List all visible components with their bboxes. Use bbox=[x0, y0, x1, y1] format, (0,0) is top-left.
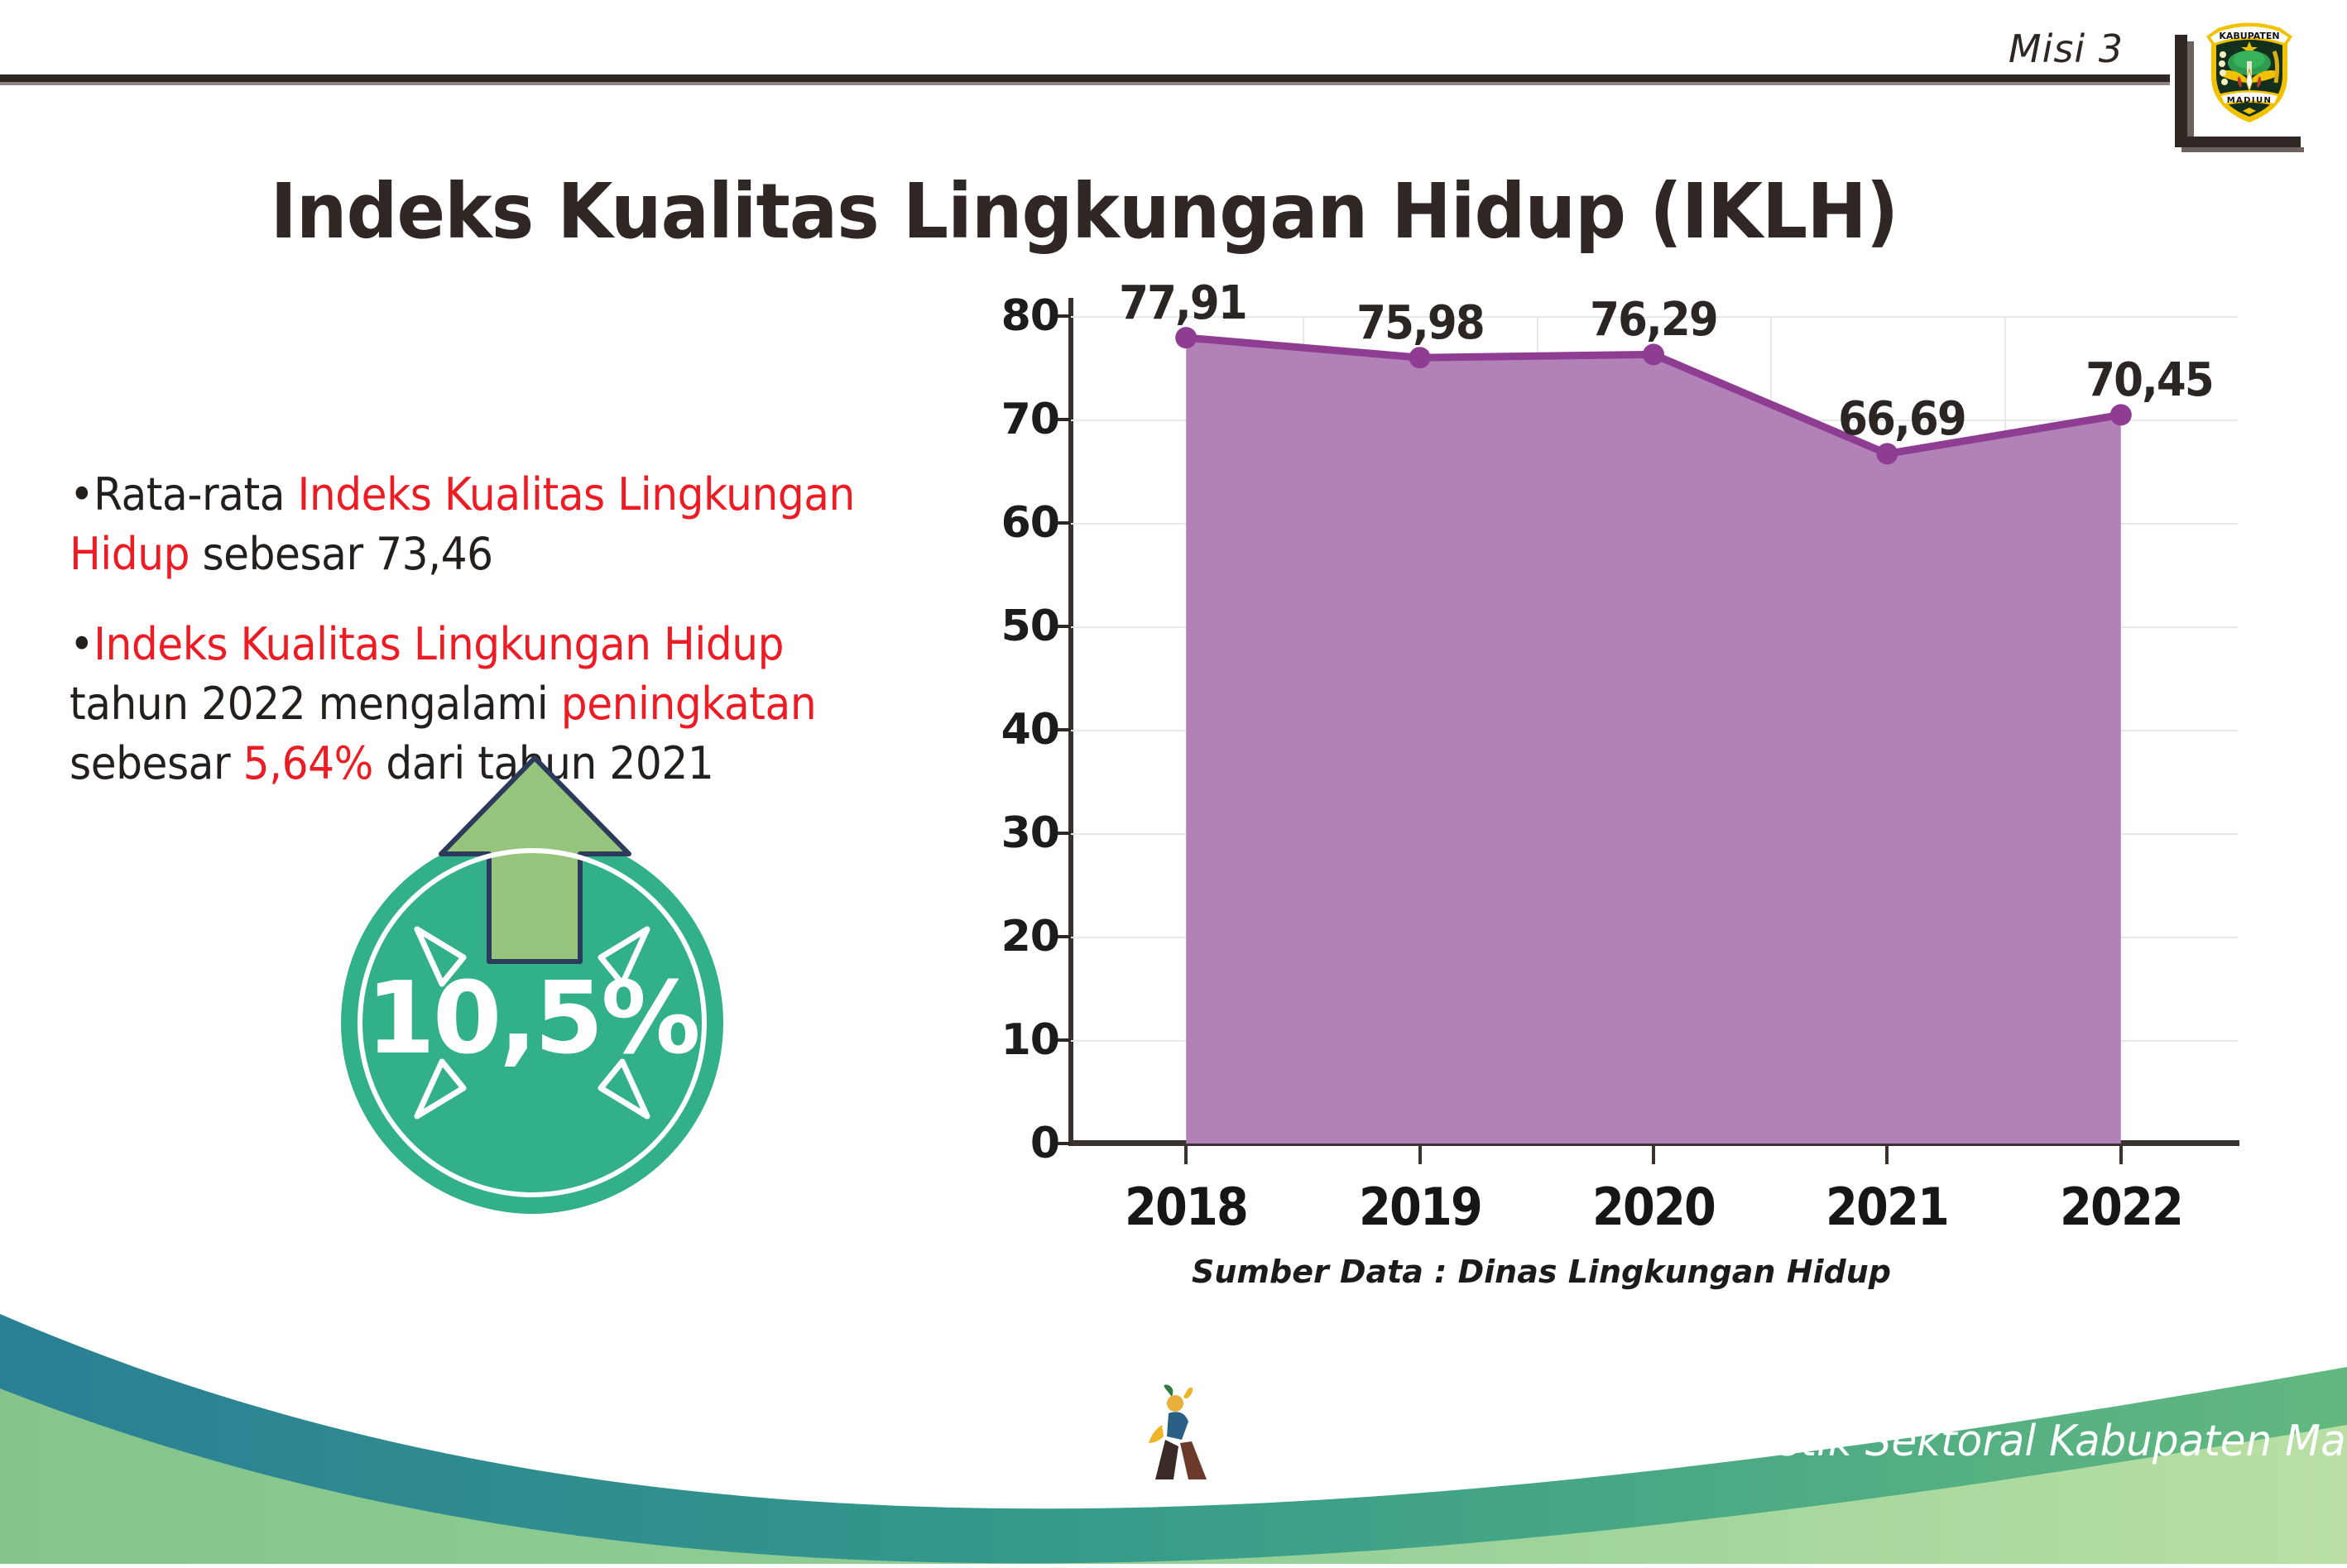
bracket-horizontal-bar bbox=[2175, 137, 2301, 147]
badge-percent-value: 10,5% bbox=[341, 961, 723, 1077]
y-axis-tick-label: 20 bbox=[935, 912, 1059, 961]
x-axis-tick-label: 2019 bbox=[1331, 1177, 1509, 1237]
emblem-bottom-banner-text: MADIUN bbox=[2227, 96, 2273, 105]
area-fill bbox=[1186, 338, 2121, 1144]
bullet-1-seg-1: tahun 2022 mengalami bbox=[70, 678, 561, 730]
bullet-1-seg-0: Indeks Kualitas Lingkungan Hidup bbox=[94, 618, 784, 670]
source-note: Sumber Data : Dinas Lingkungan Hidup bbox=[1192, 1254, 1891, 1290]
header-divider-line bbox=[0, 74, 2170, 82]
data-point-label: 70,45 bbox=[2085, 353, 2213, 407]
y-axis-tick bbox=[1058, 625, 1071, 628]
y-axis-tick-label: 40 bbox=[935, 705, 1059, 755]
bracket-vertical-bar bbox=[2175, 35, 2187, 147]
y-axis-tick bbox=[1058, 314, 1071, 318]
header-divider-shadow bbox=[0, 82, 2170, 85]
footer-caption: Media Infografis Data Statistik Sektoral… bbox=[1226, 1417, 2347, 1466]
x-axis-tick bbox=[1418, 1146, 1422, 1164]
x-axis-tick-label: 2018 bbox=[1097, 1177, 1275, 1237]
y-axis-tick-label: 10 bbox=[935, 1015, 1059, 1065]
y-axis-tick bbox=[1058, 1038, 1071, 1042]
bracket-vertical-shadow bbox=[2187, 41, 2194, 147]
misi-label: Misi 3 bbox=[2009, 26, 2124, 71]
bracket-horizontal-shadow bbox=[2181, 147, 2304, 152]
x-axis-tick bbox=[1184, 1146, 1188, 1164]
iklh-area-chart: Sumber Data : Dinas Lingkungan Hidup 010… bbox=[960, 298, 2284, 1167]
y-axis-tick-label: 50 bbox=[935, 602, 1059, 651]
x-axis-tick bbox=[1652, 1146, 1655, 1164]
x-axis-tick-label: 2022 bbox=[2032, 1177, 2210, 1237]
kabupaten-madiun-emblem-icon: KABUPATEN MADIUN bbox=[2200, 12, 2299, 127]
bullet-marker: • bbox=[70, 468, 94, 520]
data-point-label: 66,69 bbox=[1839, 392, 1966, 446]
increase-badge: 10,5% bbox=[324, 755, 738, 1185]
emblem-top-banner-text: KABUPATEN bbox=[2219, 31, 2279, 41]
chart-plot-area bbox=[1069, 316, 2238, 1144]
data-point-label: 76,29 bbox=[1590, 293, 1717, 347]
data-point-label: 77,91 bbox=[1119, 276, 1246, 330]
x-axis-tick-label: 2021 bbox=[1797, 1177, 1976, 1237]
bullet-marker: • bbox=[70, 618, 94, 670]
page-title: Indeks Kualitas Lingkungan Hidup (IKLH) bbox=[65, 167, 2104, 256]
statistics-person-logo bbox=[1144, 1382, 1223, 1488]
y-axis-tick-label: 30 bbox=[935, 808, 1059, 858]
area-series-graphic bbox=[1069, 316, 2238, 1144]
y-axis-tick-label: 0 bbox=[935, 1119, 1059, 1168]
bullet-item-average: •Rata-rata Indeks Kualitas Lingkungan Hi… bbox=[70, 465, 909, 585]
y-axis-tick-label: 70 bbox=[935, 395, 1059, 444]
y-axis-tick-label: 60 bbox=[935, 498, 1059, 548]
y-axis-tick bbox=[1058, 935, 1071, 938]
y-axis-tick bbox=[1058, 521, 1071, 525]
y-axis-tick bbox=[1058, 728, 1071, 731]
data-point-label: 75,98 bbox=[1356, 296, 1484, 350]
bullet-0-seg-0: Rata-rata bbox=[94, 468, 297, 520]
bullet-0-seg-2: sebesar 73,46 bbox=[190, 528, 493, 580]
x-axis-tick bbox=[2119, 1146, 2123, 1164]
x-axis-tick bbox=[1885, 1146, 1889, 1164]
bullet-1-seg-2: peningkatan bbox=[561, 678, 816, 730]
bullet-1-seg-3: sebesar bbox=[70, 737, 243, 789]
y-axis-tick bbox=[1058, 1142, 1071, 1145]
y-axis-tick bbox=[1058, 832, 1071, 835]
y-axis-tick bbox=[1058, 418, 1071, 421]
x-axis-tick-label: 2020 bbox=[1564, 1177, 1743, 1237]
y-axis-tick-label: 80 bbox=[935, 291, 1059, 341]
